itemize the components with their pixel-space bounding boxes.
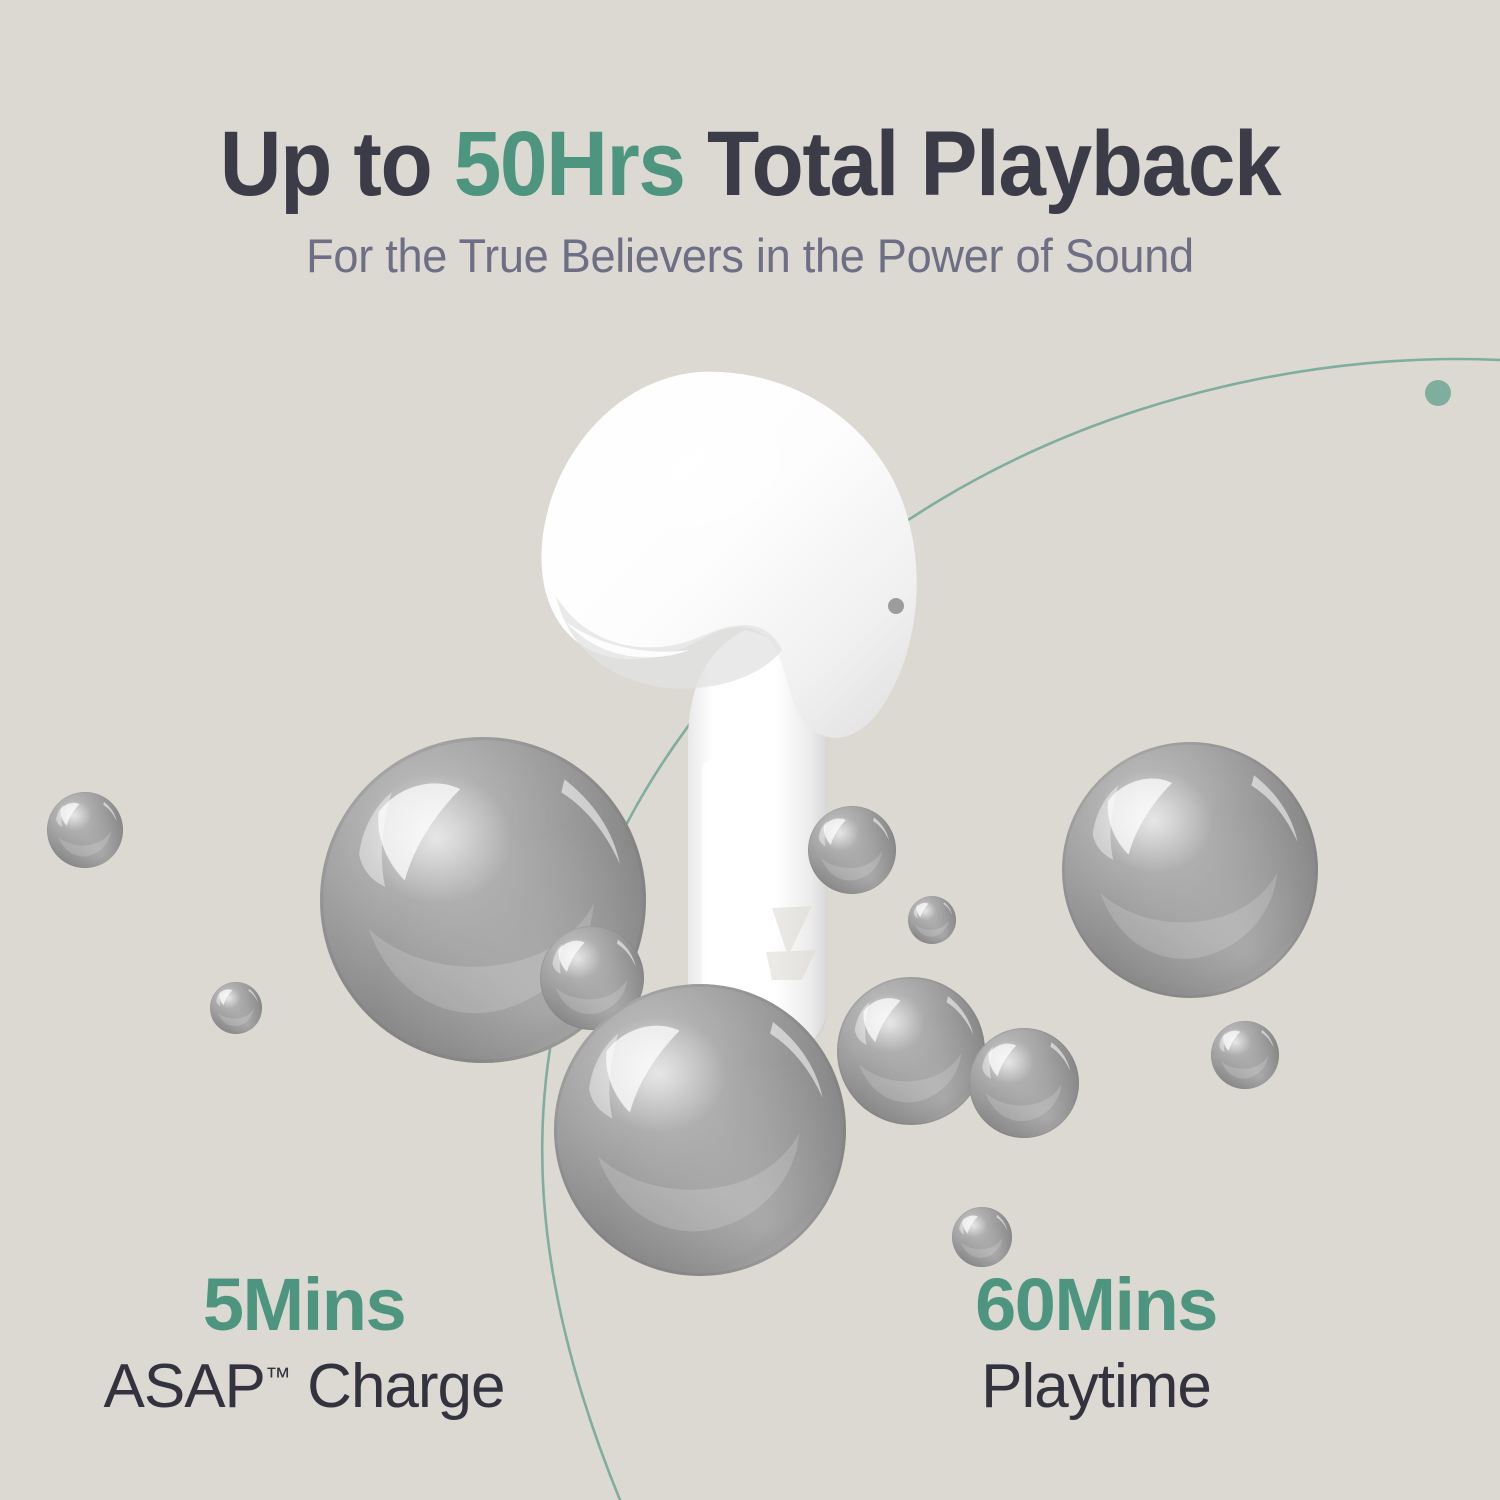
page-title: Up to 50Hrs Total Playback xyxy=(53,118,1448,210)
stat-label-text: Playtime xyxy=(981,1352,1211,1421)
sphere-medium-right-outer xyxy=(969,1028,1079,1138)
sphere-medium-right-cluster xyxy=(837,977,985,1125)
stat-label-playtime: Playtime xyxy=(836,1356,1356,1418)
sphere-small-right-lower xyxy=(1211,1021,1279,1089)
sphere-small-bottom xyxy=(952,1207,1012,1267)
headline-part-1: Up to xyxy=(220,113,454,215)
stat-label-asap-charge: ASAP™ Charge xyxy=(44,1356,564,1418)
sphere-large-bottom-center xyxy=(554,984,846,1276)
stat-label-text-suffix: Charge xyxy=(291,1352,505,1421)
sphere-small-mid xyxy=(808,806,896,894)
microphone-hole-icon xyxy=(888,598,904,614)
sphere-tiny-left xyxy=(210,982,262,1034)
product-feature-graphic: Up to 50Hrs Total Playback For the True … xyxy=(0,0,1500,1500)
subtitle: For the True Believers in the Power of S… xyxy=(30,232,1470,279)
stat-label-text: ASAP xyxy=(103,1352,264,1421)
stat-value-asap-charge: 5Mins xyxy=(44,1268,564,1342)
stat-value-playtime: 60Mins xyxy=(836,1268,1356,1342)
sphere-small-far-left xyxy=(47,792,123,868)
stat-playtime: 60Mins Playtime xyxy=(836,1268,1356,1418)
sphere-tiny-mid xyxy=(908,896,956,944)
headline-block: Up to 50Hrs Total Playback For the True … xyxy=(0,118,1500,279)
trademark-symbol: ™ xyxy=(265,1361,291,1391)
sphere-large-right xyxy=(1062,742,1318,998)
headline-accent: 50Hrs xyxy=(454,113,685,215)
stat-asap-charge: 5Mins ASAP™ Charge xyxy=(44,1268,564,1418)
headline-part-2: Total Playback xyxy=(685,113,1281,215)
